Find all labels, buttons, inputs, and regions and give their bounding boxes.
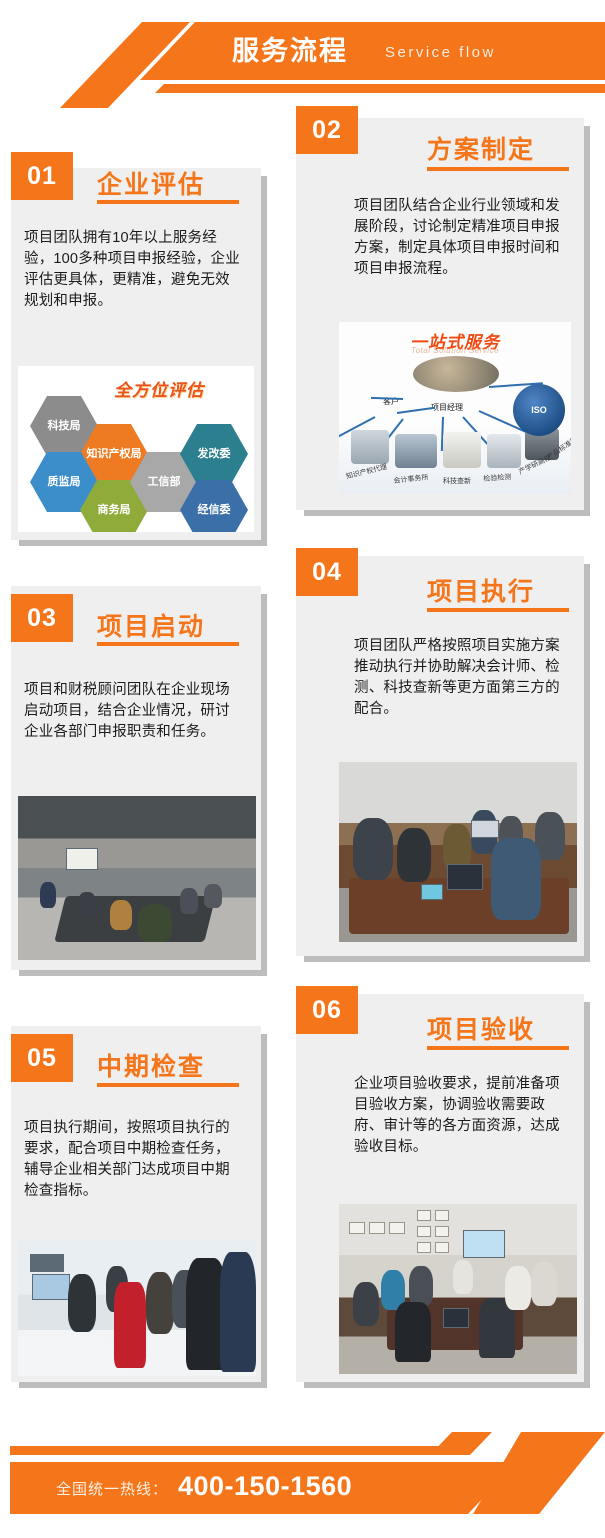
service-diagram-subtitle: Total Solution Service [339, 346, 571, 355]
step-title-06: 项目验收 [427, 1010, 535, 1046]
card-shadow-bottom [304, 956, 590, 962]
header-banner-bar [140, 22, 605, 80]
step-photo-05 [18, 1240, 256, 1376]
service-manager-label: 项目经理 [431, 402, 463, 413]
person-1 [353, 818, 393, 880]
one-stop-service-diagram: 一站式服务 Total Solution Service 客户 项目经理 ISO… [339, 322, 571, 494]
step-body-01: 项目团队拥有10年以上服务经验，100多种项目申报经验，企业评估更具体，更精准，… [24, 228, 242, 312]
service-flow-infographic: 服务流程 Service flow 01 企业评估 项目团队拥有10年以上服务经… [0, 0, 605, 1538]
service-hub-photo [413, 356, 499, 392]
visitor-1 [68, 1274, 96, 1332]
step-body-03: 项目和财税顾问团队在企业现场启动项目，结合企业情况，研讨企业各部门申报职责和任务… [24, 680, 242, 743]
card-shadow-right [584, 1002, 590, 1388]
whiteboard [66, 848, 98, 870]
attendee-3 [409, 1266, 433, 1306]
wall-certificate-4 [417, 1210, 431, 1221]
step-title-rule-05 [97, 1083, 239, 1087]
card-shadow-bottom [304, 1382, 590, 1388]
service-node-ip [351, 430, 389, 464]
step-number-badge-06: 06 [296, 986, 358, 1034]
attendee-6 [505, 1266, 531, 1310]
card-shadow-right [584, 126, 590, 516]
step-number-badge-01: 01 [11, 152, 73, 200]
photo-scene-laptop-meeting [339, 762, 577, 942]
card-shadow-bottom [19, 1382, 267, 1388]
service-node-label-2: 科技查新 [443, 476, 471, 486]
page-subtitle: Service flow [385, 42, 496, 64]
laptop [443, 1308, 469, 1328]
wall-display-2 [32, 1274, 70, 1300]
wall-display-1 [30, 1254, 64, 1272]
service-node-label-3: 检验检测 [483, 472, 512, 484]
step-title-04: 项目执行 [427, 572, 535, 608]
step-photo-03 [18, 796, 256, 960]
step-photo-06 [339, 1204, 577, 1374]
wall-certificate-5 [435, 1210, 449, 1221]
hex-diagram-title: 全方位评估 [114, 376, 204, 401]
display-counter [18, 1336, 128, 1376]
step-number-badge-05: 05 [11, 1034, 73, 1082]
wall-certificate-1 [349, 1222, 365, 1234]
person-5 [180, 888, 198, 914]
wall-certificate-2 [369, 1222, 385, 1234]
person-4 [138, 904, 172, 942]
step-title-05: 中期检查 [97, 1047, 205, 1083]
card-shadow-right [261, 1034, 267, 1388]
step-number-badge-02: 02 [296, 106, 358, 154]
step-title-rule-04 [427, 608, 569, 612]
page-footer: 全国统一热线： 400-150-1560 [0, 1432, 605, 1538]
attendee-8 [453, 1260, 473, 1294]
projection-screen [463, 1230, 505, 1258]
step-title-rule-06 [427, 1046, 569, 1050]
service-node-testing [487, 434, 521, 468]
step-photo-04 [339, 762, 577, 942]
card-shadow-bottom [19, 540, 267, 546]
step-body-04: 项目团队严格按照项目实施方案推动执行并协助解决会计师、检测、科技查新等更方面第三… [354, 636, 572, 720]
wall-certificate-7 [435, 1226, 449, 1237]
header-banner-underline [155, 84, 605, 93]
card-shadow-right [261, 594, 267, 976]
step-body-02: 项目团队结合企业行业领域和发展阶段，讨论制定精准项目申报方案，制定具体项目申报时… [354, 196, 572, 280]
card-shadow-bottom [19, 970, 267, 976]
step-title-02: 方案制定 [427, 130, 535, 166]
attendee-1 [353, 1282, 379, 1326]
step-number-badge-04: 04 [296, 548, 358, 596]
step-title-03: 项目启动 [97, 607, 205, 643]
hotline-label: 全国统一热线： [56, 1478, 168, 1499]
hotline-number[interactable]: 400-150-1560 [178, 1471, 352, 1502]
person-2 [397, 828, 431, 882]
bag [421, 884, 443, 900]
person-1 [40, 882, 56, 908]
card-shadow-right [584, 564, 590, 962]
step-number-badge-03: 03 [11, 594, 73, 642]
footer-thin-bar [10, 1446, 455, 1455]
card-shadow-bottom [304, 510, 590, 516]
visitor-red-coat [114, 1282, 146, 1368]
person-2 [78, 892, 96, 918]
laptop-1 [447, 864, 483, 890]
visitor-3 [146, 1272, 174, 1334]
step-body-06: 企业项目验收要求，提前准备项目验收方案，协调验收需要政府、审计等的各方面资源，达… [354, 1074, 572, 1158]
visitor-6 [220, 1252, 256, 1372]
photo-scene-acceptance-meeting [339, 1204, 577, 1374]
step-title-rule-01 [97, 200, 239, 204]
page-title: 服务流程 [232, 33, 348, 69]
service-node-accounting [395, 434, 437, 468]
step-body-05: 项目执行期间，按照项目执行的要求，配合项目中期检查任务，辅导企业相关部门达成项目… [24, 1118, 242, 1202]
wall-certificate-6 [417, 1226, 431, 1237]
person-3 [110, 900, 132, 930]
assessment-hexagon-diagram: 全方位评估 科技局 知识产权局 质监局 商务局 工信部 发改委 经信委 [18, 366, 254, 532]
person-7 [491, 838, 541, 920]
card-shadow-right [261, 176, 267, 546]
step-title-01: 企业评估 [97, 165, 205, 201]
laptop-2 [471, 820, 499, 838]
photo-scene-showroom-tour [18, 1240, 256, 1376]
service-node-research [443, 432, 481, 468]
arrow-from-client [397, 407, 435, 414]
wall-certificate-8 [417, 1242, 431, 1253]
attendee-7 [531, 1262, 557, 1306]
photo-scene-conference-room [18, 796, 256, 960]
attendee-4 [395, 1302, 431, 1362]
wall-certificate-3 [389, 1222, 405, 1234]
page-header: 服务流程 Service flow [0, 0, 605, 108]
step-title-rule-03 [97, 642, 239, 646]
wall-certificate-9 [435, 1242, 449, 1253]
step-title-rule-02 [427, 167, 569, 171]
iso-seal-icon: ISO [513, 384, 565, 436]
person-6 [204, 884, 222, 908]
